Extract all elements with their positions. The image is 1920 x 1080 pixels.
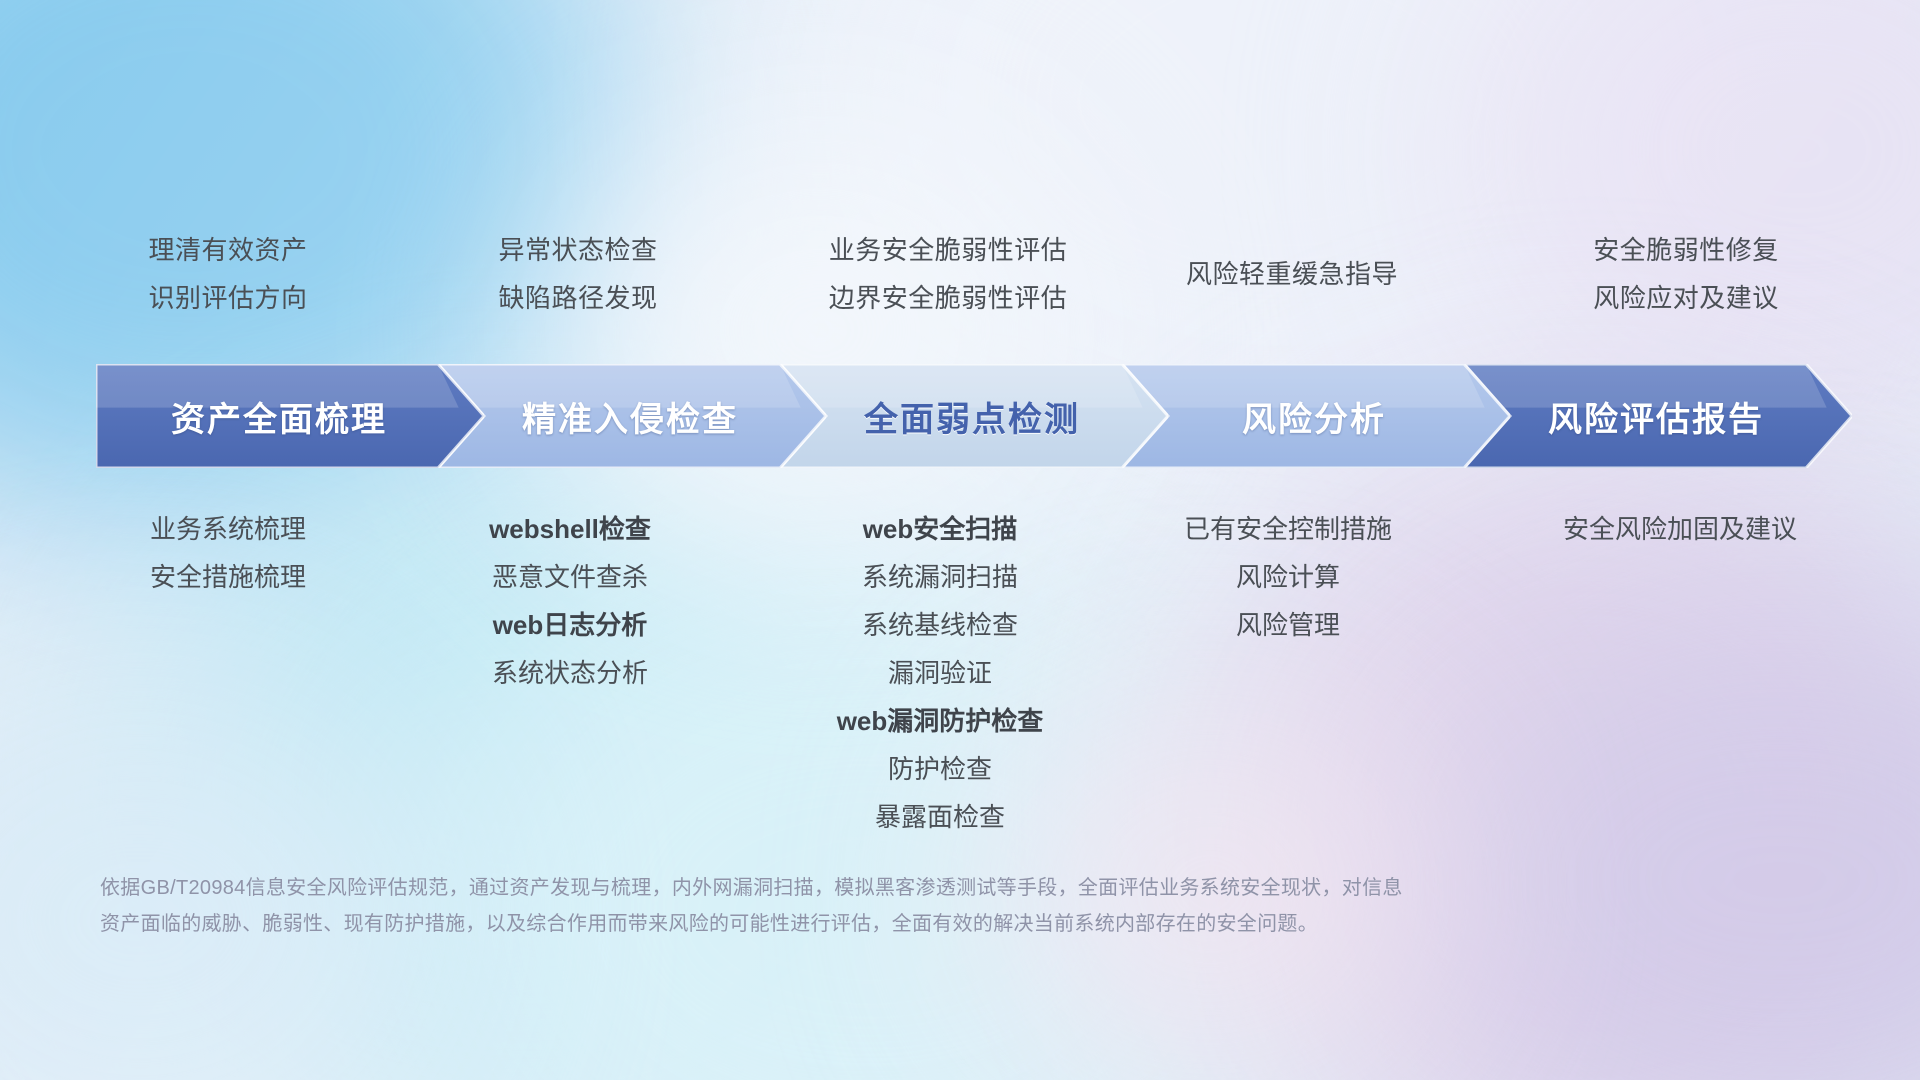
detail-item: 风险管理 [988, 601, 1588, 649]
process-step-3[interactable]: 全面弱点检测 [780, 364, 1168, 468]
detail-item: 防护检查 [640, 745, 1240, 793]
top-label-line: 安全脆弱性修复 [1386, 226, 1920, 274]
top-label-column-5: 安全脆弱性修复风险应对及建议 [1386, 226, 1920, 322]
process-step-label: 风险分析 [1122, 392, 1510, 441]
infographic-stage: 理清有效资产识别评估方向异常状态检查缺陷路径发现业务安全脆弱性评估边界安全脆弱性… [0, 0, 1920, 1080]
process-step-2[interactable]: 精准入侵检查 [438, 364, 826, 468]
process-chevron-bar: 资产全面梳理精准入侵检查全面弱点检测风险分析风险评估报告 [96, 364, 1852, 468]
detail-item: 安全风险加固及建议 [1380, 505, 1920, 553]
footer-line-2: 资产面临的威胁、脆弱性、现有防护措施，以及综合作用而带来风险的可能性进行评估，全… [100, 906, 1660, 942]
footer-line-1: 依据GB/T20984信息安全风险评估规范，通过资产发现与梳理，内外网漏洞扫描，… [100, 870, 1660, 906]
top-label-row: 理清有效资产识别评估方向异常状态检查缺陷路径发现业务安全脆弱性评估边界安全脆弱性… [0, 226, 1920, 331]
process-step-label: 资产全面梳理 [96, 392, 484, 441]
process-step-label: 精准入侵检查 [438, 392, 826, 441]
detail-item: 风险计算 [988, 553, 1588, 601]
top-label-line: 风险应对及建议 [1386, 274, 1920, 322]
process-step-4[interactable]: 风险分析 [1122, 364, 1510, 468]
process-step-5[interactable]: 风险评估报告 [1464, 364, 1852, 468]
detail-item: 漏洞验证 [640, 649, 1240, 697]
detail-item: 暴露面检查 [640, 793, 1240, 841]
detail-item: web漏洞防护检查 [640, 697, 1240, 745]
process-step-label: 风险评估报告 [1464, 392, 1852, 441]
process-step-label: 全面弱点检测 [780, 392, 1168, 441]
footer-description: 依据GB/T20984信息安全风险评估规范，通过资产发现与梳理，内外网漏洞扫描，… [100, 870, 1660, 942]
process-step-1[interactable]: 资产全面梳理 [96, 364, 484, 468]
detail-column-5: 安全风险加固及建议 [1380, 505, 1920, 553]
